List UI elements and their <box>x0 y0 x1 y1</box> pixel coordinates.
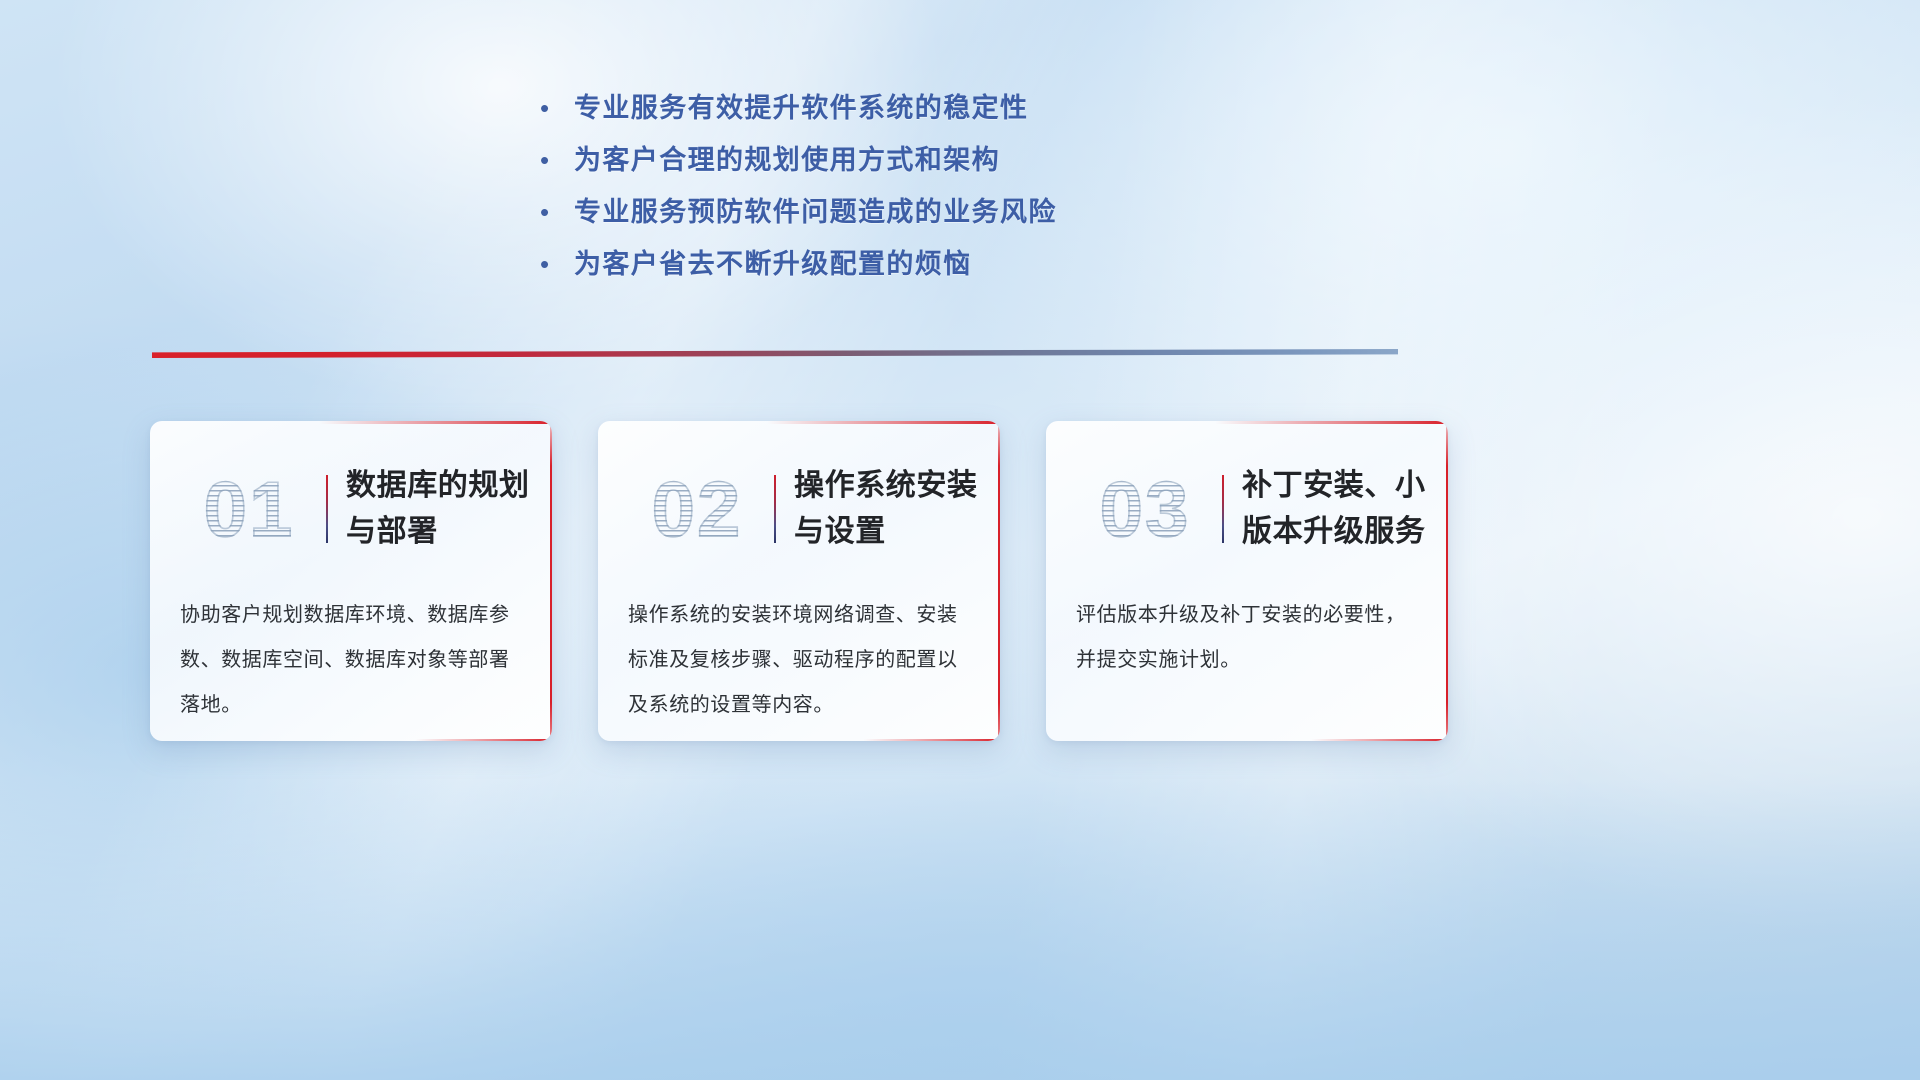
card-number: 01 <box>174 470 324 548</box>
card-title: 补丁安装、小版本升级服务 <box>1242 463 1448 555</box>
service-card-01[interactable]: 01 数据库的规划与部署 协助客户规划数据库环境、数据库参数、数据库空间、数据库… <box>150 421 552 741</box>
list-item: • 专业服务有效提升软件系统的稳定性 <box>540 88 1300 140</box>
bullet-list: • 专业服务有效提升软件系统的稳定性 • 为客户合理的规划使用方式和架构 • 专… <box>540 88 1300 296</box>
section-divider <box>152 345 1398 361</box>
card-body-text: 协助客户规划数据库环境、数据库参数、数据库空间、数据库对象等部署落地。 <box>180 593 526 728</box>
card-accent-top <box>767 421 1000 424</box>
bullet-text: 为客户省去不断升级配置的烦恼 <box>574 244 972 284</box>
card-accent-bottom <box>415 739 552 742</box>
divider-line-gradient <box>152 349 1398 358</box>
card-header: 01 数据库的规划与部署 <box>150 443 552 575</box>
card-header: 02 操作系统安装与设置 <box>598 443 1000 575</box>
card-number: 02 <box>622 470 772 548</box>
card-accent-bottom <box>863 739 1000 742</box>
bullet-text: 专业服务预防软件问题造成的业务风险 <box>574 192 1057 232</box>
list-item: • 为客户省去不断升级配置的烦恼 <box>540 244 1300 296</box>
list-item: • 为客户合理的规划使用方式和架构 <box>540 140 1300 192</box>
bullet-dot-icon: • <box>540 244 574 284</box>
card-number: 03 <box>1070 470 1220 548</box>
card-divider-bar <box>326 475 328 543</box>
card-accent-bottom <box>1311 739 1448 742</box>
card-divider-bar <box>1222 475 1224 543</box>
card-title: 数据库的规划与部署 <box>346 463 552 555</box>
card-title: 操作系统安装与设置 <box>794 463 1000 555</box>
card-accent-top <box>319 421 552 424</box>
card-body-text: 操作系统的安装环境网络调查、安装标准及复核步骤、驱动程序的配置以及系统的设置等内… <box>628 593 974 728</box>
service-card-02[interactable]: 02 操作系统安装与设置 操作系统的安装环境网络调查、安装标准及复核步骤、驱动程… <box>598 421 1000 741</box>
bullet-text: 为客户合理的规划使用方式和架构 <box>574 140 1000 180</box>
card-divider-bar <box>774 475 776 543</box>
bullet-dot-icon: • <box>540 192 574 232</box>
card-accent-top <box>1215 421 1448 424</box>
card-header: 03 补丁安装、小版本升级服务 <box>1046 443 1448 575</box>
bullet-dot-icon: • <box>540 140 574 180</box>
service-card-03[interactable]: 03 补丁安装、小版本升级服务 评估版本升级及补丁安装的必要性，并提交实施计划。 <box>1046 421 1448 741</box>
bullet-dot-icon: • <box>540 88 574 128</box>
bullet-text: 专业服务有效提升软件系统的稳定性 <box>574 88 1028 128</box>
list-item: • 专业服务预防软件问题造成的业务风险 <box>540 192 1300 244</box>
card-group: 01 数据库的规划与部署 协助客户规划数据库环境、数据库参数、数据库空间、数据库… <box>150 421 1448 741</box>
card-body-text: 评估版本升级及补丁安装的必要性，并提交实施计划。 <box>1076 593 1422 683</box>
